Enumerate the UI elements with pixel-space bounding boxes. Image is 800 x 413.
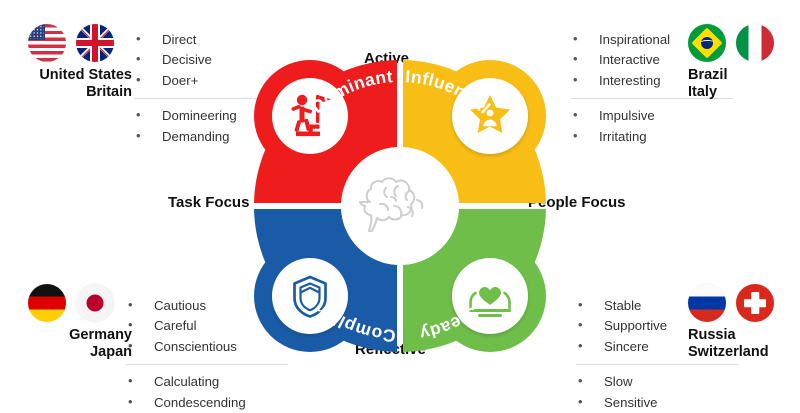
country-names-top-right: Brazil Italy <box>688 67 800 101</box>
trait-item: Calculating <box>120 372 295 392</box>
country-name: United States <box>10 67 132 84</box>
flag-russia-icon <box>688 284 726 322</box>
flag-switzerland-icon <box>736 284 774 322</box>
trait-divider <box>576 364 738 365</box>
country-names-bottom-left: Germany Japan <box>10 327 132 361</box>
axis-label-task-focus: Task Focus <box>168 194 249 211</box>
flag-brazil-icon <box>688 24 726 62</box>
country-names-bottom-right: Russia Switzerland <box>688 327 800 361</box>
weaknesses-list-top-right: Impulsive Irritating <box>565 106 740 147</box>
flag-row-bottom-right <box>688 284 800 322</box>
flag-britain-icon <box>76 24 114 62</box>
disc-diagram-canvas: United States Britain Direct Decisive Do… <box>0 0 800 407</box>
flag-row-top-right <box>688 24 800 62</box>
flag-germany-icon <box>28 284 66 322</box>
trait-item: Condescending <box>120 393 295 413</box>
flag-italy-icon <box>736 24 774 62</box>
disc-wheel: Dominant Influential Steady Compliant <box>246 56 554 356</box>
trait-item: Slow <box>570 372 745 392</box>
brain-icon <box>360 178 422 231</box>
country-group-top-right: Brazil Italy <box>688 24 800 101</box>
country-name: Brazil <box>688 67 800 84</box>
country-names-top-left: United States Britain <box>10 67 132 101</box>
flag-japan-icon <box>76 284 114 322</box>
flag-united-states-icon <box>28 24 66 62</box>
trait-divider <box>126 364 288 365</box>
trait-item: Direct <box>128 30 303 50</box>
trait-item: Impulsive <box>565 106 740 126</box>
country-name: Britain <box>10 84 132 101</box>
trait-item: Irritating <box>565 127 740 147</box>
trait-item: Sensitive <box>570 393 745 413</box>
country-name: Italy <box>688 84 800 101</box>
country-name: Russia <box>688 327 800 344</box>
country-group-bottom-right: Russia Switzerland <box>688 284 800 361</box>
country-name: Japan <box>10 344 132 361</box>
country-name: Switzerland <box>688 344 800 361</box>
country-name: Germany <box>10 327 132 344</box>
